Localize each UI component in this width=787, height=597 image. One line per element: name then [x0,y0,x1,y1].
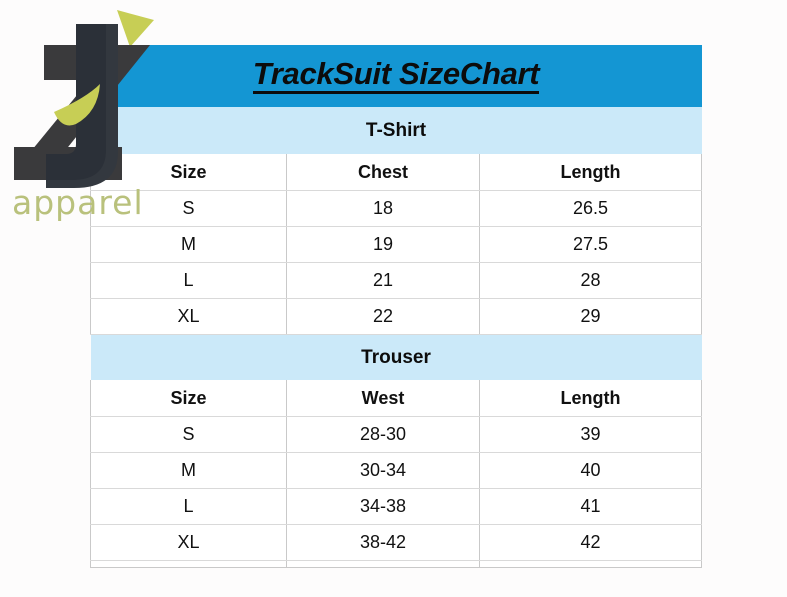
table-row: M 19 27.5 [91,227,702,263]
cell-size: M [91,453,287,489]
cell-size: M [91,227,287,263]
tracksuit-size-chart-table: TrackSuit SizeChart T-Shirt Size Chest L… [90,45,702,568]
section-title-trouser: Trouser [91,335,702,381]
chart-title-cell: TrackSuit SizeChart [91,45,702,107]
cell-size: L [91,263,287,299]
cell-chest: 21 [287,263,480,299]
cell-length: 29 [480,299,702,335]
table-row: M 30-34 40 [91,453,702,489]
cell-size: S [91,191,287,227]
cell-size: XL [91,525,287,561]
column-header-row-tshirt: Size Chest Length [91,154,702,191]
table-row: S 18 26.5 [91,191,702,227]
cell-size: XL [91,299,287,335]
cell-chest: 18 [287,191,480,227]
triangle-accent-icon [117,10,154,47]
size-chart-page: TrackSuit SizeChart T-Shirt Size Chest L… [0,0,787,597]
cell-length: 26.5 [480,191,702,227]
table-footer-spacer-row [91,561,702,568]
cell-west: 30-34 [287,453,480,489]
section-header-trouser: Trouser [91,335,702,381]
cell-west: 28-30 [287,417,480,453]
cell-length: 28 [480,263,702,299]
column-header-row-trouser: Size West Length [91,380,702,417]
column-header-west: West [287,380,480,417]
column-header-length: Length [480,380,702,417]
column-header-size: Size [91,154,287,191]
section-header-tshirt: T-Shirt [91,107,702,154]
cell-chest: 19 [287,227,480,263]
cell-size: S [91,417,287,453]
spacer-cell [287,561,480,568]
spacer-cell [480,561,702,568]
cell-length: 27.5 [480,227,702,263]
column-header-size: Size [91,380,287,417]
table-row: S 28-30 39 [91,417,702,453]
page-title: TrackSuit SizeChart [253,58,540,95]
cell-west: 38-42 [287,525,480,561]
table-row: XL 22 29 [91,299,702,335]
table-row: L 34-38 41 [91,489,702,525]
section-title-tshirt: T-Shirt [91,107,702,154]
column-header-length: Length [480,154,702,191]
spacer-cell [91,561,287,568]
table-row: XL 38-42 42 [91,525,702,561]
cell-length: 39 [480,417,702,453]
column-header-chest: Chest [287,154,480,191]
cell-length: 41 [480,489,702,525]
cell-west: 34-38 [287,489,480,525]
table-row: L 21 28 [91,263,702,299]
cell-size: L [91,489,287,525]
cell-length: 42 [480,525,702,561]
chart-title-row: TrackSuit SizeChart [91,45,702,107]
cell-length: 40 [480,453,702,489]
cell-chest: 22 [287,299,480,335]
